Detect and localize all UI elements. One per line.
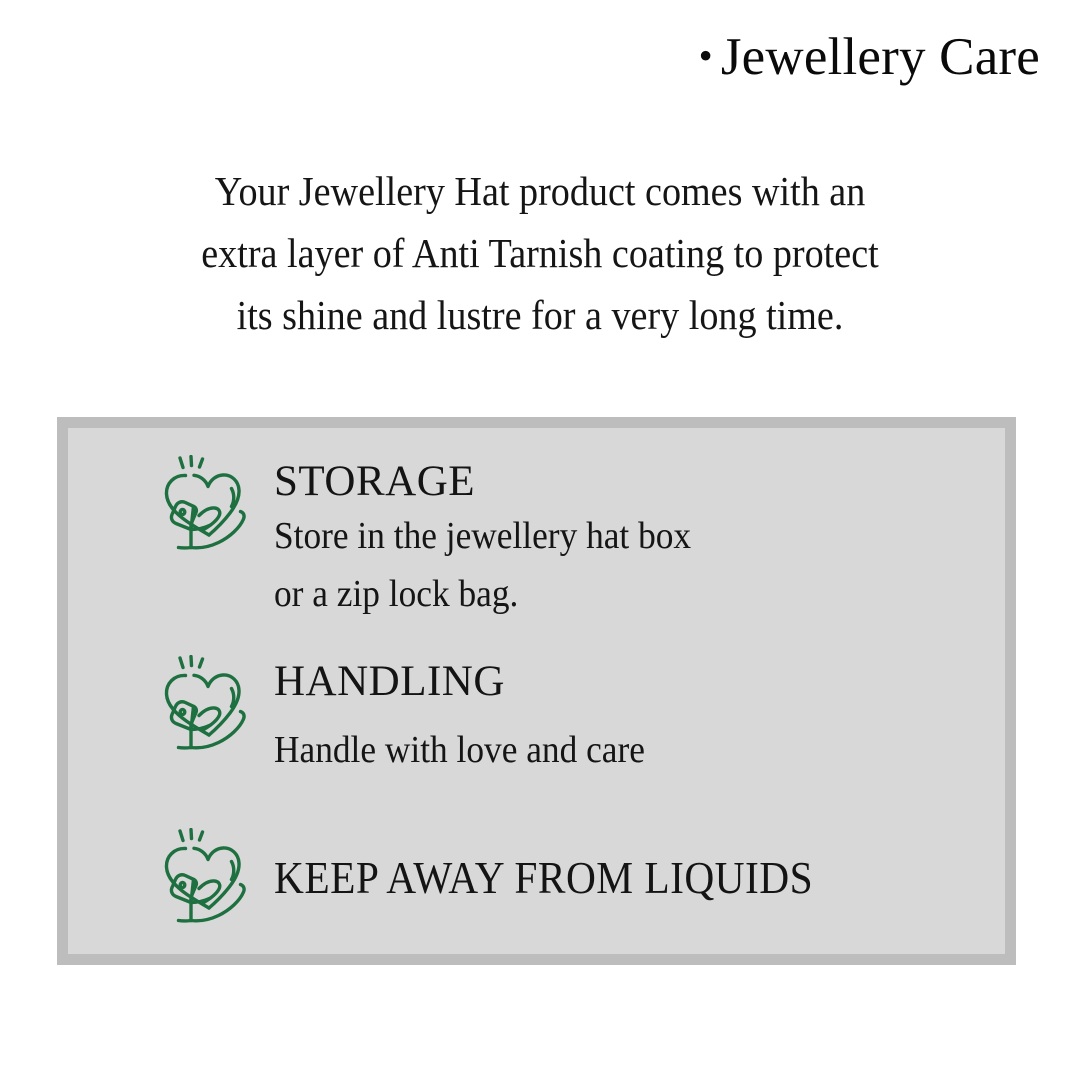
page-title: •Jewellery Care [699,28,1040,86]
intro-paragraph: Your Jewellery Hat product comes with an… [70,160,1010,346]
care-description-line: or a zip lock bag. [274,565,691,623]
care-heading: KEEP AWAY FROM LIQUIDS [274,853,813,903]
page-title-text: Jewellery Care [721,28,1040,86]
care-text: STORAGE Store in the jewellery hat box o… [274,455,723,623]
care-instructions-panel: STORAGE Store in the jewellery hat box o… [57,417,1016,965]
intro-line: Your Jewellery Hat product comes with an [103,160,977,222]
intro-line: extra layer of Anti Tarnish coating to p… [103,222,977,284]
list-item: STORAGE Store in the jewellery hat box o… [152,455,723,623]
care-text: HANDLING Handle with love and care [274,655,673,779]
care-description-line: Handle with love and care [274,721,645,779]
care-heading: HANDLING [274,657,673,707]
care-text: KEEP AWAY FROM LIQUIDS [274,851,873,903]
hand-heart-icon [152,455,256,553]
intro-line: its shine and lustre for a very long tim… [103,284,977,346]
hand-heart-icon [152,655,256,753]
list-item: HANDLING Handle with love and care [152,655,673,779]
hand-heart-icon [152,828,256,926]
care-description-line: Store in the jewellery hat box [274,507,691,565]
care-heading: STORAGE [274,457,723,507]
list-item: KEEP AWAY FROM LIQUIDS [152,828,873,926]
care-list: STORAGE Store in the jewellery hat box o… [68,428,1005,954]
bullet-icon: • [699,33,713,78]
care-description: Store in the jewellery hat box or a zip … [274,507,723,623]
care-description: Handle with love and care [274,721,673,779]
